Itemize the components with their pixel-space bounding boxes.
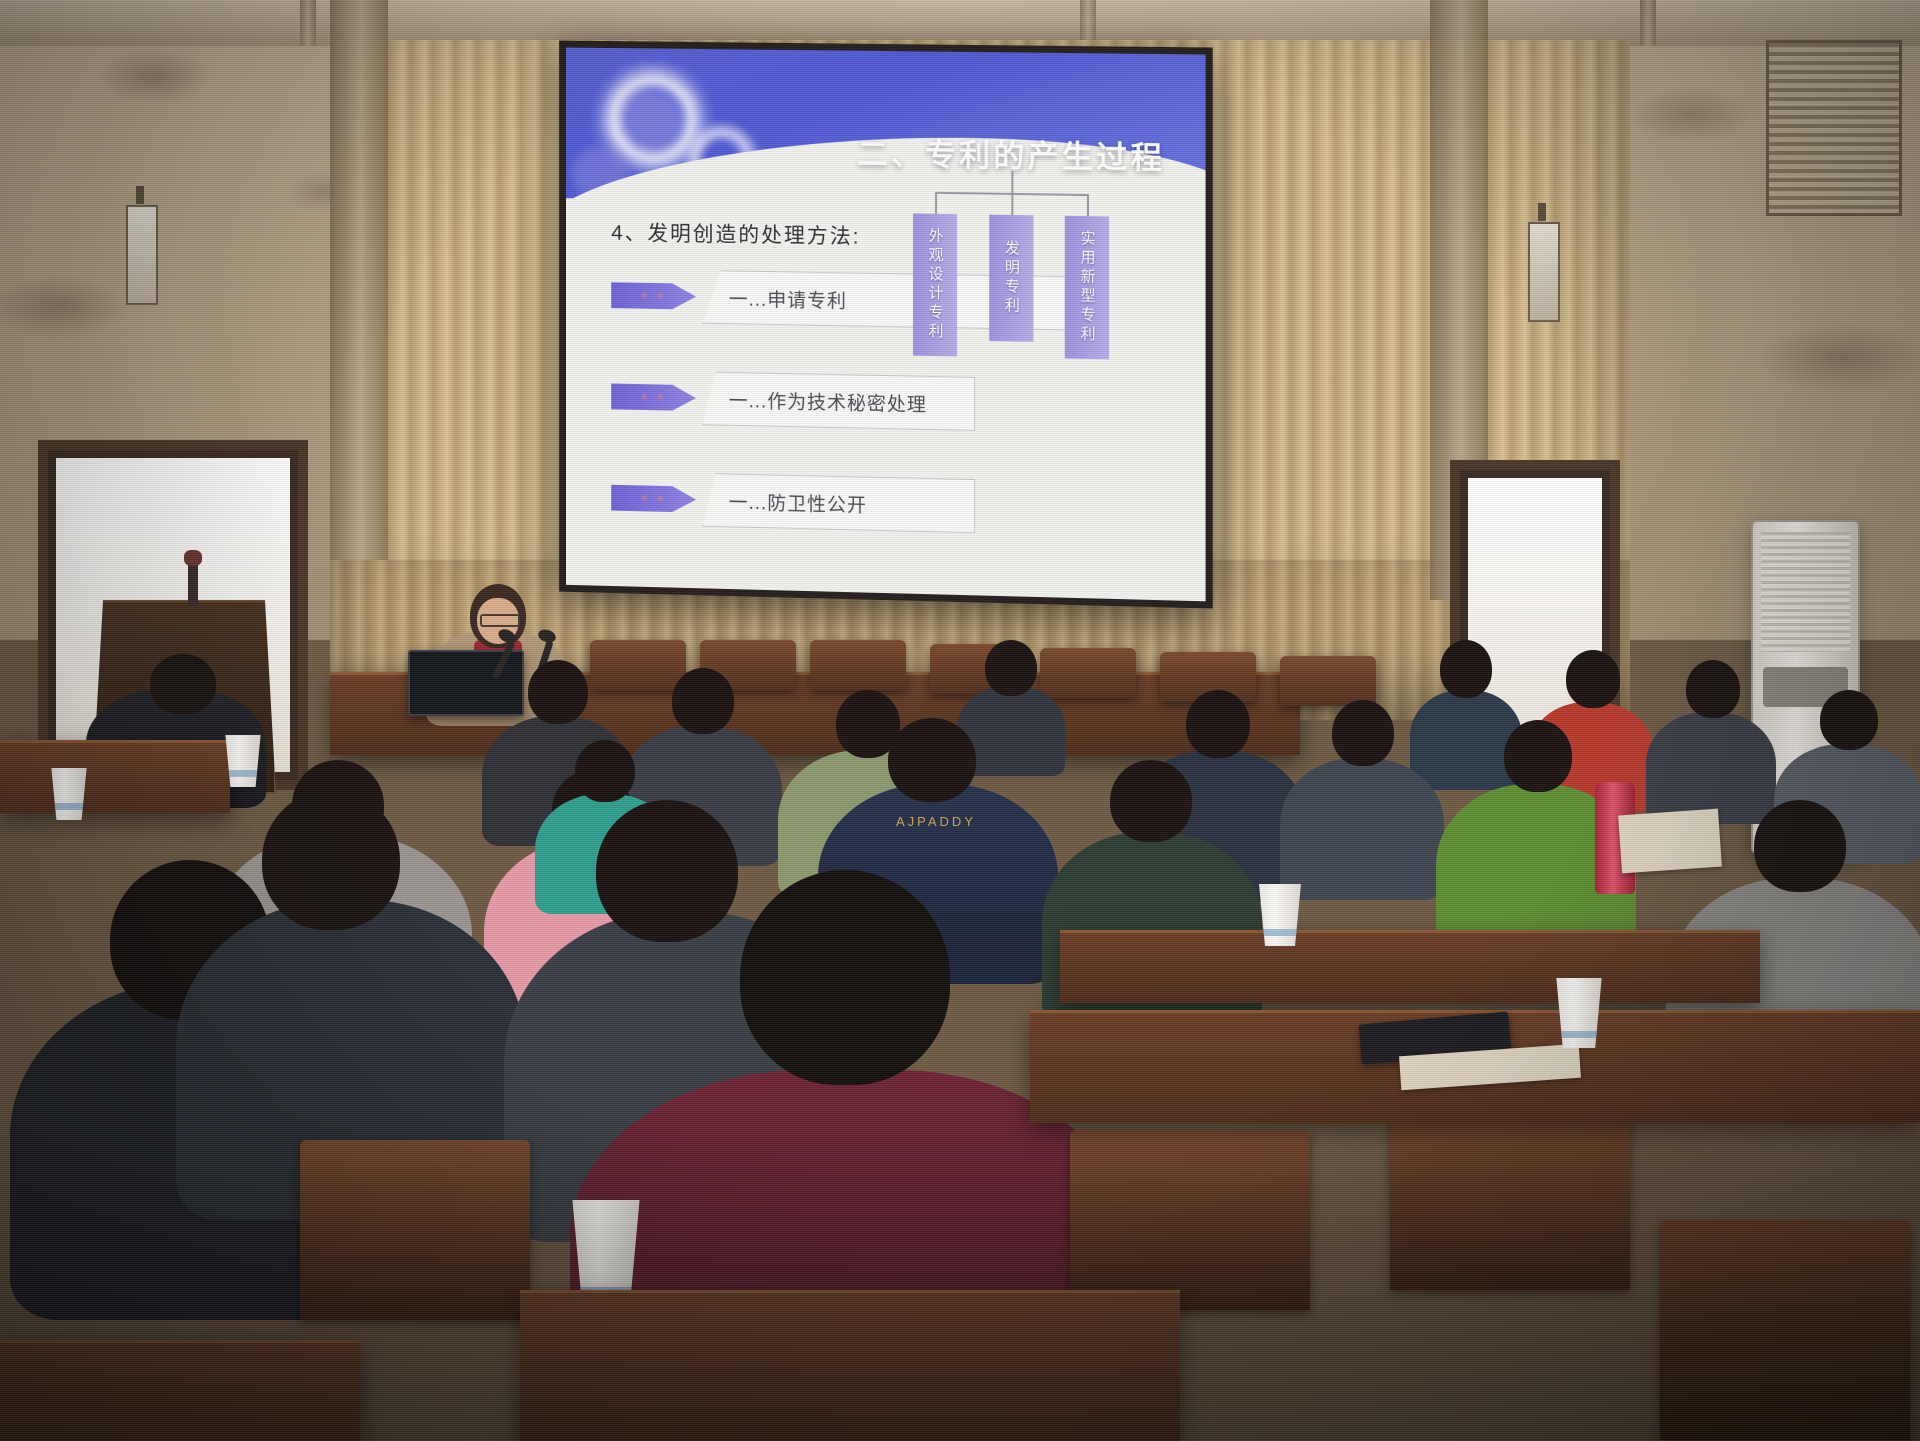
bullet-banner-label: ※ ※ <box>641 392 667 403</box>
head <box>1566 650 1620 708</box>
bullet-banner-label: ※ ※ <box>641 290 667 301</box>
head <box>1754 800 1846 892</box>
head <box>1186 690 1250 758</box>
diagram-connector <box>1087 194 1089 216</box>
phone-or-paper <box>1618 809 1722 874</box>
torso <box>1280 758 1444 900</box>
head <box>1110 760 1192 842</box>
foreground-chair <box>300 1140 530 1320</box>
bullet-plate: 一...防卫性公开 <box>702 473 975 533</box>
diagram-trunk <box>1011 171 1013 193</box>
bullet-text: 一...防卫性公开 <box>729 487 867 517</box>
diagram-node-label: 实用新型专利 <box>1076 230 1097 345</box>
slide-bullet-row: ※ ※ 一...防卫性公开 <box>611 477 1009 538</box>
bullet-text: 一...作为技术秘密处理 <box>729 385 927 416</box>
ac-grille <box>1761 532 1850 652</box>
ceiling-beam <box>1640 0 1656 46</box>
bullet-banner: ※ ※ <box>611 282 696 309</box>
wall-sconce-stem <box>1538 203 1546 221</box>
bullet-banner: ※ ※ <box>611 485 696 513</box>
head <box>888 718 976 802</box>
side-desk <box>0 740 230 813</box>
projection-screen: 二、专利的产生过程 4、发明创造的处理方法: ※ ※ 一...申请专利 ※ ※ … <box>559 41 1213 609</box>
head <box>672 668 734 734</box>
head <box>1332 700 1394 766</box>
ceiling-vent <box>1766 40 1902 216</box>
ceiling-beam <box>300 0 316 46</box>
diagram-connector <box>1011 193 1013 215</box>
diagram-node-label: 外观设计专利 <box>925 228 946 343</box>
diagram-connector <box>935 192 937 214</box>
bullet-plate: 一...作为技术秘密处理 <box>702 371 975 431</box>
head <box>1440 640 1492 698</box>
slide-subtitle: 4、发明创造的处理方法: <box>611 217 860 251</box>
bullet-text: 一...申请专利 <box>729 284 847 313</box>
bullet-banner: ※ ※ <box>611 384 696 412</box>
glasses-icon <box>480 614 520 627</box>
stage-chair <box>1280 656 1376 706</box>
lecture-hall-photo: 二、专利的产生过程 4、发明创造的处理方法: ※ ※ 一...申请专利 ※ ※ … <box>0 0 1920 1441</box>
stage-chair <box>810 640 906 690</box>
audience-member-green <box>1460 720 1610 920</box>
wall-sconce-stem <box>136 186 144 204</box>
head <box>575 740 635 802</box>
head <box>1820 690 1878 750</box>
audience-member <box>1660 660 1760 790</box>
foreground-chair <box>1660 1220 1910 1440</box>
foreground-desk <box>520 1290 1180 1441</box>
foreground-desk <box>0 1340 360 1441</box>
head <box>528 660 588 724</box>
lectern-microphone <box>188 560 198 606</box>
slide-bullet-row: ※ ※ 一...作为技术秘密处理 <box>611 376 1009 436</box>
patent-type-diagram: 外观设计专利 发明专利 实用新型专利 <box>923 170 1102 374</box>
audience-desk <box>1060 930 1760 1003</box>
head <box>1504 720 1572 792</box>
wall-sconce <box>126 205 158 305</box>
diagram-node: 发明专利 <box>989 215 1033 342</box>
head <box>150 654 216 714</box>
presentation-slide: 二、专利的产生过程 4、发明创造的处理方法: ※ ※ 一...申请专利 ※ ※ … <box>566 48 1206 602</box>
diagram-node: 实用新型专利 <box>1065 216 1109 360</box>
wall-pilaster <box>330 0 388 560</box>
head <box>1686 660 1740 718</box>
wall-sconce <box>1528 222 1560 322</box>
jacket-logo-text: AJPADDY <box>876 814 996 832</box>
head <box>985 640 1037 696</box>
head <box>262 790 400 930</box>
lectern-microphone-head-icon <box>184 550 202 566</box>
diagram-node: 外观设计专利 <box>913 213 957 356</box>
foreground-chair <box>1070 1130 1310 1310</box>
bullet-banner-label: ※ ※ <box>641 493 667 505</box>
head <box>740 870 950 1085</box>
foreground-chair <box>1390 1110 1630 1290</box>
foreground-attendee <box>200 790 490 1190</box>
audience-member <box>1300 700 1420 860</box>
diagram-node-label: 发明专利 <box>1001 240 1022 317</box>
